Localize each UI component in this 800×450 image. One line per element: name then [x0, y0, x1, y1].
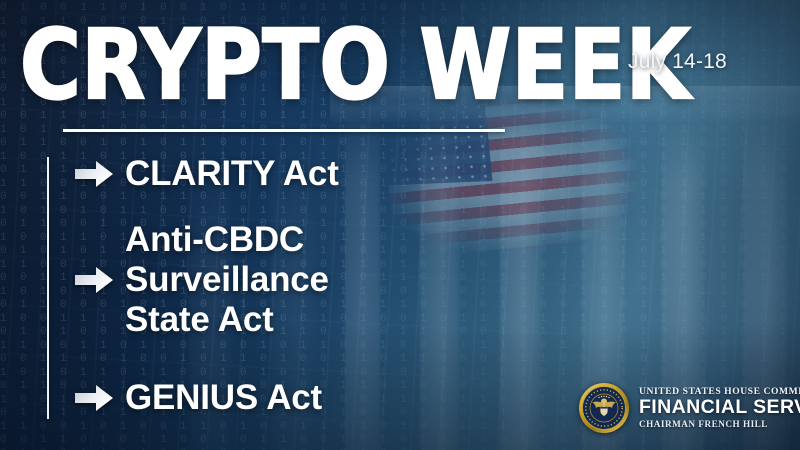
list-item-clarity-act[interactable]: CLARITY Act — [74, 154, 504, 194]
horizontal-divider — [63, 129, 505, 132]
bill-list: CLARITY Act Anti-CBDC Surveillance State… — [74, 150, 504, 432]
list-item-label: Anti-CBDC Surveillance State Act — [125, 220, 329, 340]
date-label: July 14-18 — [628, 50, 778, 74]
arrow-right-icon — [74, 383, 114, 413]
arrow-right-icon — [74, 265, 114, 295]
crypto-week-graphic: 0 1 0 0 1 1 0 1 0 0 1 0 1 1 0 0 1 0 1 0 … — [0, 0, 800, 450]
list-item-genius-act[interactable]: GENIUS Act — [74, 378, 504, 418]
arrow-right-icon — [74, 159, 114, 189]
list-item-label: GENIUS Act — [125, 378, 322, 418]
logo-line-committee: UNITED STATES HOUSE COMMITTEE ON — [639, 387, 800, 397]
logo-text-block: UNITED STATES HOUSE COMMITTEE ON FINANCI… — [639, 387, 800, 429]
logo-line-chairman: CHAIRMAN FRENCH HILL — [639, 420, 800, 429]
list-item-anti-cbdc-surveillance-state-act[interactable]: Anti-CBDC Surveillance State Act — [74, 220, 504, 340]
us-house-committee-seal-icon — [578, 382, 630, 434]
vertical-rule — [47, 157, 49, 419]
logo-line-financial-services: FINANCIAL SERVICES — [639, 398, 800, 418]
committee-logo[interactable]: UNITED STATES HOUSE COMMITTEE ON FINANCI… — [578, 379, 792, 437]
list-item-label: CLARITY Act — [125, 154, 339, 194]
page-title: CRYPTO WEEK — [20, 16, 558, 114]
